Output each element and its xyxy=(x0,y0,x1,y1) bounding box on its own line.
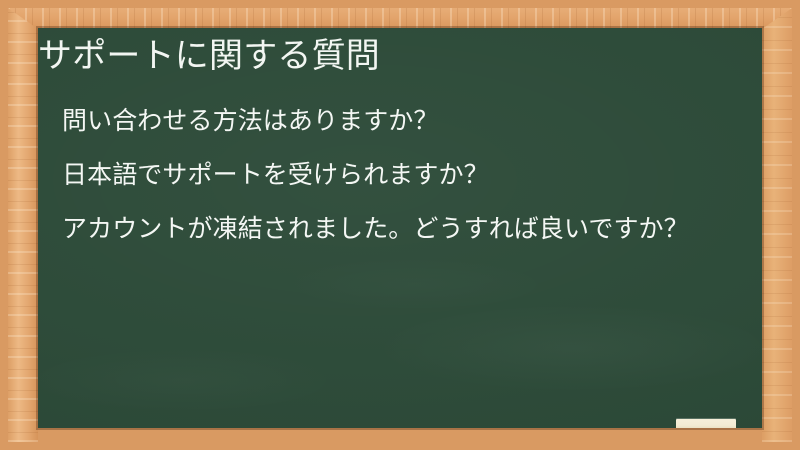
list-item: 問い合わせる方法はありますか？ xyxy=(62,100,752,142)
frame-rail-left xyxy=(8,8,38,442)
frame-rail-top xyxy=(8,8,792,29)
list-item: 日本語でサポートを受けられますか？ xyxy=(62,154,752,196)
faq-list: 問い合わせる方法はありますか？ 日本語でサポートを受けられますか？ アカウントが… xyxy=(62,100,752,262)
chalkboard-surface: サポートに関する質問 問い合わせる方法はありますか？ 日本語でサポートを受けられ… xyxy=(38,28,762,428)
list-item: アカウントが凍結されました。どうすれば良いですか？ xyxy=(62,208,752,250)
frame-rail-right xyxy=(762,8,792,442)
chalk-stick-icon xyxy=(676,419,736,428)
page-title: サポートに関する質問 xyxy=(38,32,738,80)
chalkboard-scene: サポートに関する質問 問い合わせる方法はありますか？ 日本語でサポートを受けられ… xyxy=(0,0,800,450)
chalkboard-content: サポートに関する質問 問い合わせる方法はありますか？ 日本語でサポートを受けられ… xyxy=(38,28,762,428)
